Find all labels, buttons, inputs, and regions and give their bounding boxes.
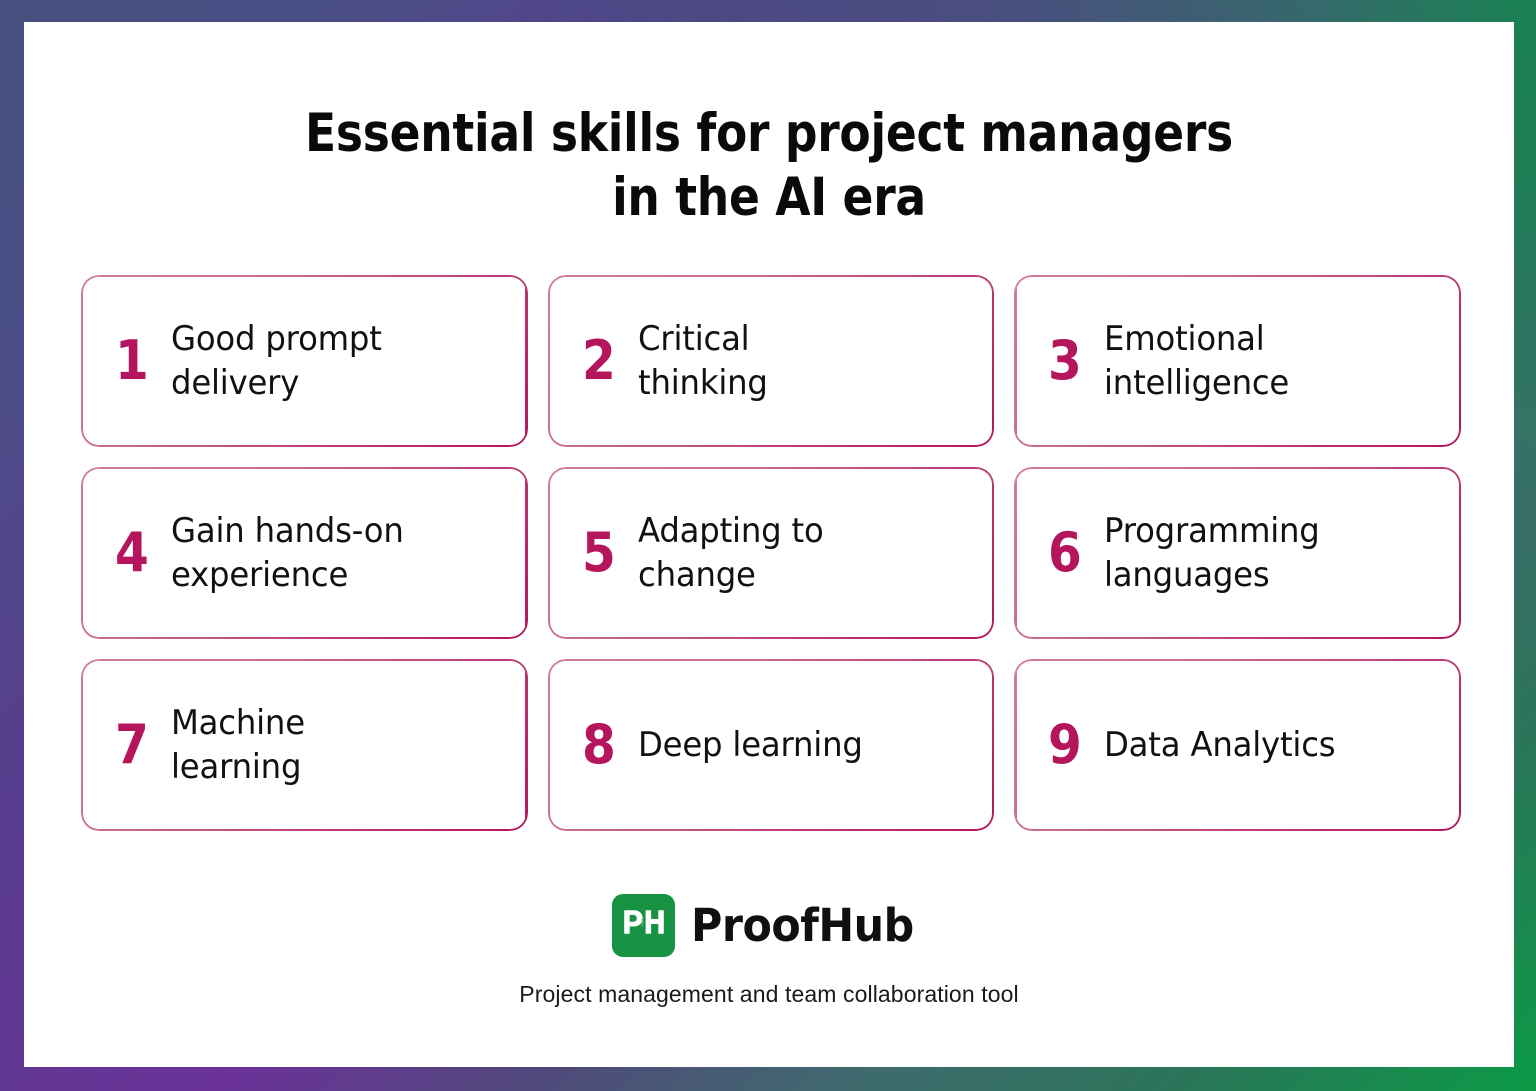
skill-card-label: Adapting to change	[638, 509, 824, 597]
skill-card-label: Gain hands-on experience	[171, 509, 404, 597]
skill-card-6[interactable]: 6 Programming languages	[1014, 467, 1461, 639]
skill-card-number: 7	[115, 718, 162, 772]
skill-card-1[interactable]: 1 Good prompt delivery	[81, 275, 528, 447]
skill-card-number: 4	[115, 526, 162, 580]
skills-card-grid: 1 Good prompt delivery 2 Critical thinki…	[81, 275, 1461, 831]
skill-card-number: 6	[1048, 526, 1095, 580]
brand-name: ProofHub	[691, 903, 914, 948]
page-title: Essential skills for project managers in…	[128, 102, 1409, 231]
infographic-frame: Essential skills for project managers in…	[0, 0, 1536, 1091]
brand-tagline: Project management and team collaboratio…	[519, 983, 1018, 1006]
brand-footer: ProofHub Project management and team col…	[24, 894, 1514, 1006]
skill-card-9[interactable]: 9 Data Analytics	[1014, 659, 1461, 831]
skill-card-2[interactable]: 2 Critical thinking	[548, 275, 995, 447]
skill-card-number: 1	[115, 334, 162, 388]
proofhub-logo-icon	[612, 894, 675, 957]
skill-card-label: Data Analytics	[1104, 723, 1335, 767]
skill-card-label: Good prompt delivery	[171, 317, 382, 405]
skill-card-7[interactable]: 7 Machine learning	[81, 659, 528, 831]
skill-card-8[interactable]: 8 Deep learning	[548, 659, 995, 831]
skill-card-label: Emotional intelligence	[1104, 317, 1289, 405]
brand-lockup: ProofHub	[612, 894, 926, 957]
skill-card-number: 9	[1048, 718, 1095, 772]
skill-card-label: Deep learning	[638, 723, 863, 767]
skill-card-number: 3	[1048, 334, 1095, 388]
skill-card-label: Machine learning	[171, 701, 305, 789]
skill-card-label: Programming languages	[1104, 509, 1320, 597]
skill-card-3[interactable]: 3 Emotional intelligence	[1014, 275, 1461, 447]
infographic-canvas: Essential skills for project managers in…	[24, 22, 1514, 1067]
skill-card-number: 5	[582, 526, 629, 580]
skill-card-5[interactable]: 5 Adapting to change	[548, 467, 995, 639]
skill-card-number: 8	[582, 718, 629, 772]
skill-card-label: Critical thinking	[638, 317, 768, 405]
skill-card-4[interactable]: 4 Gain hands-on experience	[81, 467, 528, 639]
skill-card-number: 2	[582, 334, 629, 388]
